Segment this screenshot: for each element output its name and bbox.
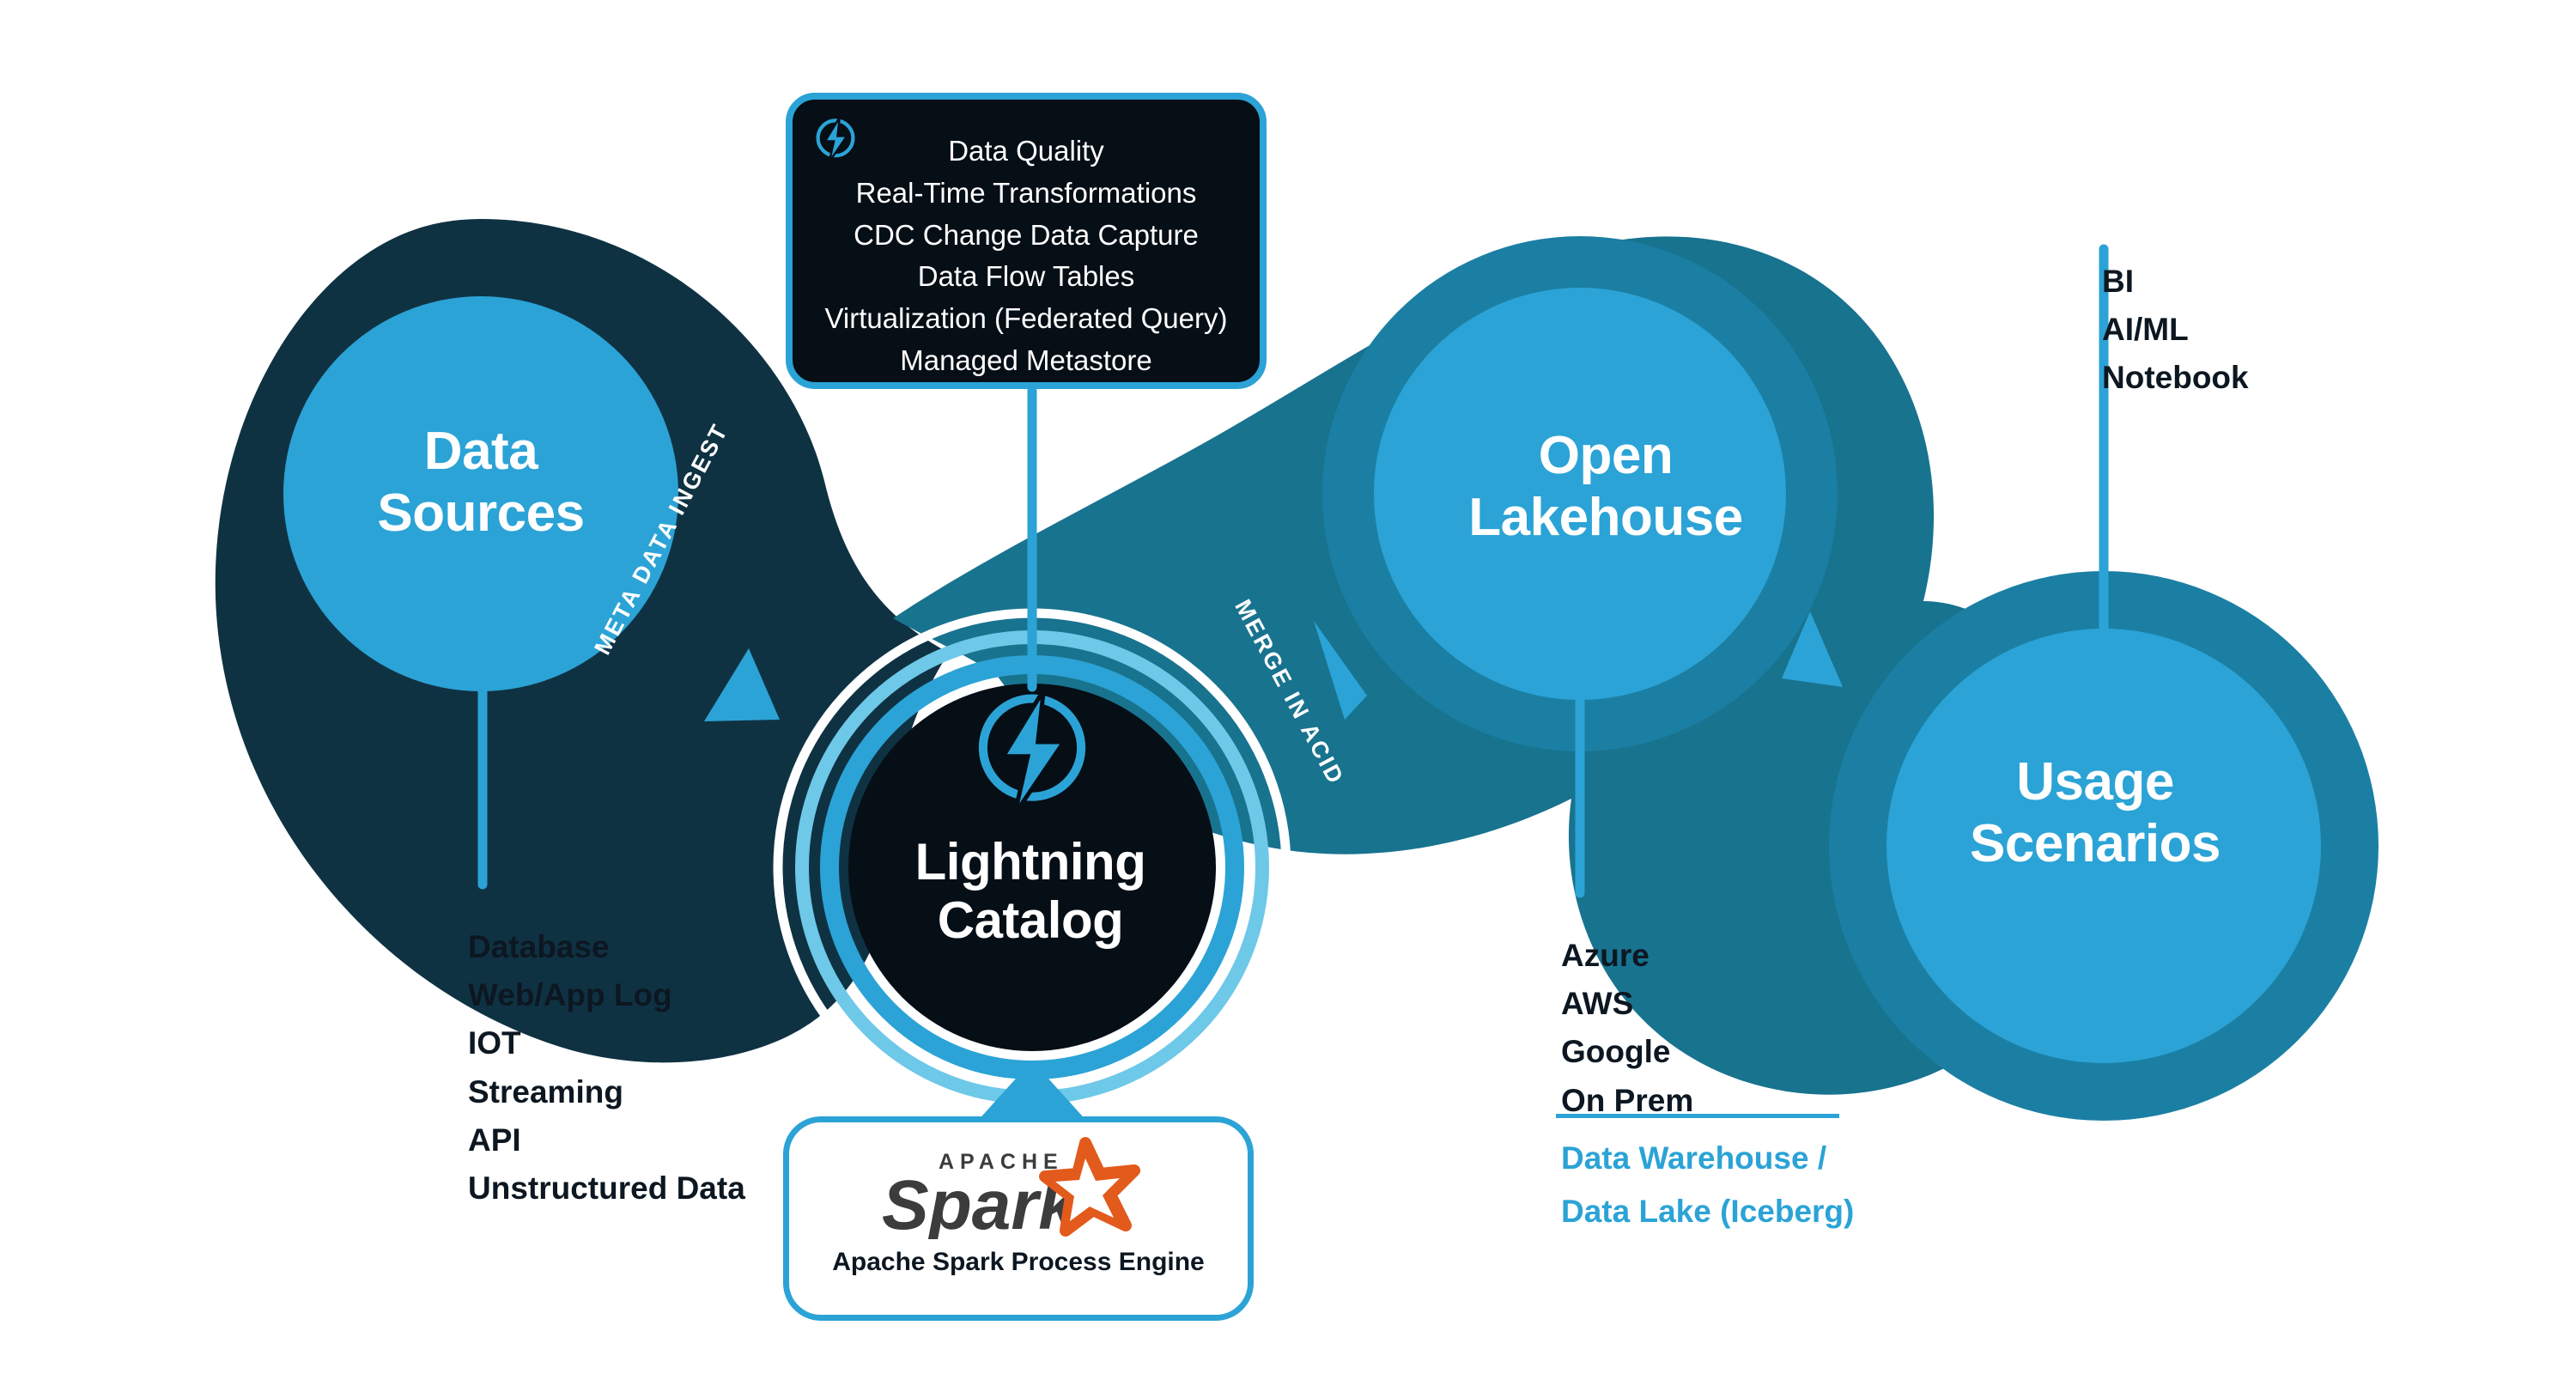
list-item: Database	[468, 923, 745, 971]
feature-item: Real-Time Transformations	[793, 173, 1260, 215]
list-item: Web/App Log	[468, 971, 745, 1019]
circle-open-lakehouse	[1374, 288, 1786, 700]
platforms-divider	[1556, 1114, 1839, 1118]
circle-data-sources	[283, 296, 678, 691]
lightning-bolt-circle-icon	[960, 678, 1104, 823]
list-item: Azure	[1561, 932, 1693, 980]
feature-item: Managed Metastore	[793, 340, 1260, 382]
list-item: API	[468, 1116, 745, 1164]
storage-type-list: Data Warehouse / Data Lake (Iceberg)	[1561, 1132, 1854, 1238]
feature-item: Data Quality	[793, 131, 1260, 173]
spark-caption: Apache Spark Process Engine	[789, 1248, 1248, 1277]
list-item: Data Warehouse /	[1561, 1132, 1854, 1185]
list-item: IOT	[468, 1019, 745, 1067]
diagram-background	[0, 0, 2576, 1374]
feature-item: CDC Change Data Capture	[793, 215, 1260, 257]
node-label-lightning-catalog: Lightning Catalog	[807, 833, 1254, 951]
data-sources-list: Database Web/App Log IOT Streaming API U…	[468, 923, 745, 1213]
list-item: Google	[1561, 1028, 1693, 1076]
list-item: AI/ML	[2102, 306, 2249, 354]
apache-spark-logo: APACHE Spark	[872, 1136, 1155, 1239]
list-item: Notebook	[2102, 354, 2249, 402]
feature-item: Virtualization (Federated Query)	[793, 298, 1260, 340]
circle-usage-scenarios	[1886, 629, 2321, 1063]
list-item: BI	[2102, 258, 2249, 306]
list-item: Data Lake (Iceberg)	[1561, 1185, 1854, 1238]
usage-scenarios-list: BI AI/ML Notebook	[2102, 258, 2249, 403]
list-item: Unstructured Data	[468, 1164, 745, 1213]
list-item: Streaming	[468, 1068, 745, 1116]
platforms-list: Azure AWS Google On Prem	[1561, 932, 1693, 1125]
feature-item: Data Flow Tables	[793, 256, 1260, 298]
feature-list: Data Quality Real-Time Transformations C…	[793, 131, 1260, 382]
list-item: AWS	[1561, 980, 1693, 1028]
spark-box: APACHE Spark Apache Spark Process Engine	[783, 1116, 1254, 1321]
diagram-canvas: Data Sources Open Lakehouse Usage Scenar…	[0, 0, 2576, 1374]
feature-box: Data Quality Real-Time Transformations C…	[786, 93, 1267, 389]
